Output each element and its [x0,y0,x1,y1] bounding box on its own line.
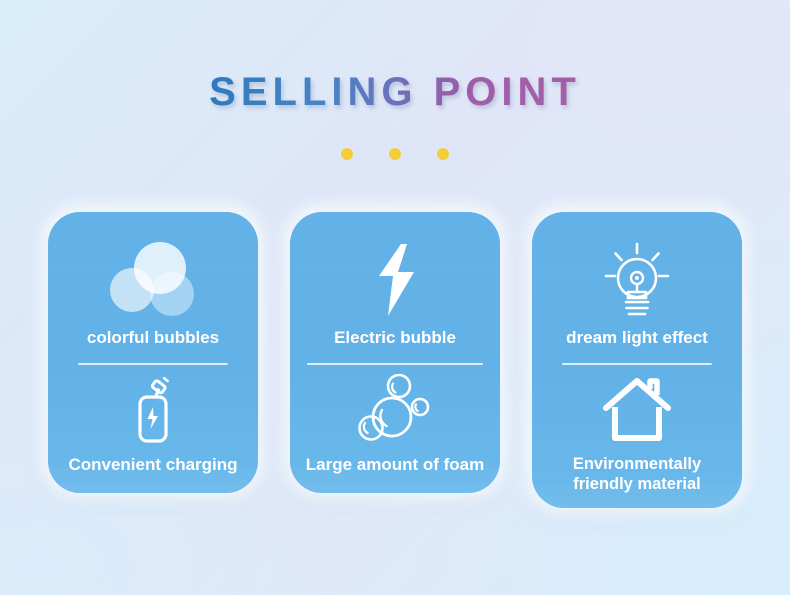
power-bank-charging-icon-slot [58,371,248,449]
feature-card-electric-bubble[interactable]: Electric bubble Large amount of foam [290,212,500,493]
power-bank-charging-icon [126,375,180,445]
foam-bubbles-icon [356,373,434,447]
lightbulb-icon [595,240,679,320]
card-top-label: dream light effect [566,328,708,348]
bubbles-icon [110,242,196,318]
card-bottom-label: Convenient charging [68,455,237,475]
card-bottom-label: Large amount of foam [306,455,485,475]
card-top-label: colorful bubbles [87,328,219,348]
title-container: SELLING POINT [0,72,790,112]
feature-card-dream-light-effect[interactable]: dream light effect Environmentally frien… [532,212,742,508]
card-divider [307,363,483,365]
feature-card-list: colorful bubbles Convenient charging Ele… [48,212,742,508]
lightbulb-icon-slot [542,238,732,322]
card-top-label: Electric bubble [334,328,456,348]
bubbles-icon-slot [58,238,248,322]
foam-bubbles-icon-slot [300,371,490,449]
lightning-bolt-icon-slot [300,238,490,322]
dot-1 [341,148,353,160]
house-icon-slot [542,371,732,449]
bubble-medium [110,268,154,312]
dot-3 [437,148,449,160]
decorative-dots [0,148,790,160]
feature-card-colorful-bubbles[interactable]: colorful bubbles Convenient charging [48,212,258,493]
lightning-bolt-icon [369,242,421,318]
card-divider [78,363,228,365]
dot-2 [389,148,401,160]
bubble-small [150,272,194,316]
house-icon [602,378,672,442]
card-divider [562,363,712,365]
page-title: SELLING POINT [209,72,581,112]
card-bottom-label: Environmentally friendly material [542,455,732,494]
